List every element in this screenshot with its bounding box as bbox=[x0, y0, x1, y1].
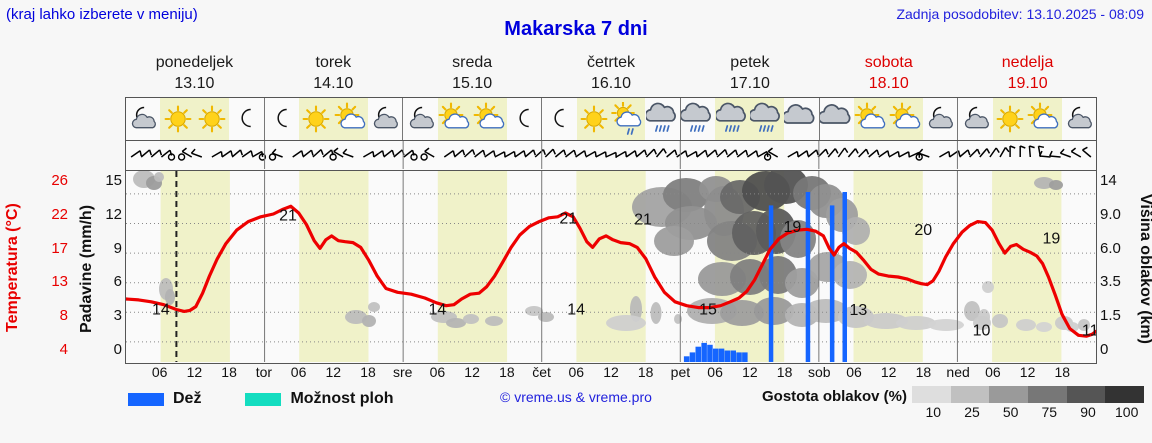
day-name: ponedeljek bbox=[125, 52, 264, 73]
weather-icon-row bbox=[125, 97, 1097, 141]
rain-legend-swatch bbox=[128, 393, 164, 406]
temp-label-8: 19 bbox=[784, 219, 802, 236]
showers-legend-swatch bbox=[245, 393, 281, 406]
sun-icon bbox=[195, 98, 229, 140]
temp-label-10: 10 bbox=[973, 322, 991, 339]
day-header-0: ponedeljek13.10 bbox=[125, 52, 264, 94]
precipitation-tick-3: 6 bbox=[114, 273, 122, 290]
icon-day-4 bbox=[681, 98, 820, 140]
sun-cloud-icon bbox=[854, 98, 888, 140]
cloud-density-legend-label: Gostota oblakov (%) bbox=[762, 388, 907, 405]
day-name: četrtek bbox=[542, 52, 681, 73]
cloud-height-tick-0: 14 bbox=[1100, 172, 1117, 189]
copyright-text[interactable]: © vreme.us & vreme.pro bbox=[500, 389, 652, 405]
icon-day-0 bbox=[126, 98, 265, 140]
moon-cloud-icon bbox=[403, 98, 437, 140]
temp-label-6: 21 bbox=[634, 212, 652, 229]
temperature-tick-3: 13 bbox=[51, 273, 68, 290]
time-tick-17: 12 bbox=[742, 364, 758, 380]
time-tick-22: 18 bbox=[916, 364, 932, 380]
time-tick-25: 12 bbox=[1020, 364, 1036, 380]
moon-icon bbox=[542, 98, 576, 140]
cloud-height-tick-4: 1.5 bbox=[1100, 307, 1121, 324]
moon-cloud-icon bbox=[923, 98, 957, 140]
time-tick-2: 18 bbox=[221, 364, 237, 380]
cloud-icon bbox=[820, 98, 854, 140]
temp-label-0: 14 bbox=[152, 301, 170, 318]
day-name: petek bbox=[680, 52, 819, 73]
cloud-density-swatch-1 bbox=[951, 386, 990, 403]
temperature-tick-5: 4 bbox=[60, 341, 68, 358]
sun-cloud-icon bbox=[472, 98, 506, 140]
temp-label-4: 14 bbox=[567, 301, 585, 318]
day-header-row: ponedeljek13.10torek14.10sreda15.10četrt… bbox=[125, 52, 1097, 94]
day-header-1: torek14.10 bbox=[264, 52, 403, 94]
cloud-height-tick-1: 9.0 bbox=[1100, 206, 1121, 223]
icon-day-3 bbox=[542, 98, 681, 140]
day-name: nedelja bbox=[958, 52, 1097, 73]
temperature-tick-2: 17 bbox=[51, 240, 68, 257]
temp-label-1: 21 bbox=[279, 208, 297, 225]
cloud-rain-icon bbox=[645, 98, 679, 140]
time-tick-12: 06 bbox=[569, 364, 585, 380]
temperature-axis-ticks: 2622171384 bbox=[34, 160, 68, 372]
rain-legend-label: Dež bbox=[173, 390, 201, 408]
time-tick-24: 06 bbox=[985, 364, 1001, 380]
day-date: 13.10 bbox=[125, 73, 264, 94]
sun-cloud-icon bbox=[888, 98, 922, 140]
temp-label-11: 19 bbox=[1043, 231, 1061, 248]
cloud-density-tick-4: 90 bbox=[1080, 404, 1096, 420]
time-tick-13: 12 bbox=[603, 364, 619, 380]
precipitation-tick-1: 12 bbox=[105, 206, 122, 223]
time-tick-8: 06 bbox=[430, 364, 446, 380]
day-header-4: petek17.10 bbox=[680, 52, 819, 94]
temp-label-3: 21 bbox=[559, 211, 577, 228]
precipitation-tick-2: 9 bbox=[114, 240, 122, 257]
cloud-density-tick-3: 75 bbox=[1042, 404, 1058, 420]
time-axis-labels: 061218tor061218sre061218čet061218pet0612… bbox=[125, 364, 1097, 384]
day-date: 17.10 bbox=[680, 73, 819, 94]
cloud-rain-icon bbox=[681, 98, 715, 140]
sun-cloud-icon bbox=[438, 98, 472, 140]
time-tick-7: sre bbox=[393, 364, 412, 380]
cloud-density-ramp-ticks: 1025507590100 bbox=[904, 404, 1148, 422]
temp-label-7: 13 bbox=[850, 302, 868, 319]
cloud-density-swatch-2 bbox=[989, 386, 1028, 403]
time-tick-4: 06 bbox=[291, 364, 307, 380]
cloud-density-swatch-4 bbox=[1067, 386, 1106, 403]
day-date: 14.10 bbox=[264, 73, 403, 94]
temperature-tick-4: 8 bbox=[60, 307, 68, 324]
cloud-density-swatch-5 bbox=[1105, 386, 1144, 403]
meteogram-svg: 14211421141521131920101911 bbox=[126, 171, 1096, 362]
time-tick-10: 18 bbox=[499, 364, 515, 380]
temperature-axis-title: Temperatura (°C) bbox=[4, 168, 32, 368]
sun-icon bbox=[160, 98, 194, 140]
temp-label-5: 15 bbox=[699, 301, 717, 318]
wind-barbs-svg bbox=[126, 141, 1096, 169]
cloud-height-tick-5: 0 bbox=[1100, 341, 1108, 358]
time-tick-0: 06 bbox=[152, 364, 168, 380]
cloud-density-color-ramp bbox=[912, 386, 1144, 403]
cloud-density-tick-1: 25 bbox=[964, 404, 980, 420]
last-updated-text: Zadnja posodobitev: 13.10.2025 - 08:09 bbox=[896, 6, 1144, 22]
temp-label-9: 20 bbox=[914, 222, 932, 239]
day-name: torek bbox=[264, 52, 403, 73]
wind-barb-row bbox=[125, 141, 1097, 171]
precipitation-axis-ticks: 15129630 bbox=[100, 160, 122, 372]
cloud-density-tick-0: 10 bbox=[926, 404, 942, 420]
cloud-density-tick-2: 50 bbox=[1003, 404, 1019, 420]
time-tick-26: 18 bbox=[1055, 364, 1071, 380]
sun-cloud-icon bbox=[1027, 98, 1061, 140]
time-tick-9: 12 bbox=[464, 364, 480, 380]
showers-legend-label: Možnost ploh bbox=[290, 390, 393, 408]
time-tick-5: 12 bbox=[326, 364, 342, 380]
cloud-height-axis-title: Višina oblakov (km) bbox=[1128, 166, 1152, 372]
precipitation-tick-4: 3 bbox=[114, 307, 122, 324]
time-tick-6: 18 bbox=[360, 364, 376, 380]
moon-cloud-icon bbox=[368, 98, 402, 140]
day-header-6: nedelja19.10 bbox=[958, 52, 1097, 94]
sun-cloud-icon bbox=[334, 98, 368, 140]
day-date: 18.10 bbox=[819, 73, 958, 94]
time-tick-3: tor bbox=[256, 364, 272, 380]
day-header-3: četrtek16.10 bbox=[542, 52, 681, 94]
moon-icon bbox=[265, 98, 299, 140]
sun-icon bbox=[993, 98, 1027, 140]
temperature-tick-1: 22 bbox=[51, 206, 68, 223]
temperature-tick-0: 26 bbox=[51, 172, 68, 189]
cloud-density-swatch-0 bbox=[912, 386, 951, 403]
moon-icon bbox=[507, 98, 541, 140]
moon-icon bbox=[229, 98, 263, 140]
day-header-2: sreda15.10 bbox=[403, 52, 542, 94]
day-name: sobota bbox=[819, 52, 958, 73]
day-date: 16.10 bbox=[542, 73, 681, 94]
sun-icon bbox=[299, 98, 333, 140]
icon-day-1 bbox=[265, 98, 404, 140]
temp-label-12: 11 bbox=[1082, 322, 1096, 339]
time-tick-15: pet bbox=[671, 364, 690, 380]
time-tick-21: 12 bbox=[881, 364, 897, 380]
time-tick-14: 18 bbox=[638, 364, 654, 380]
moon-cloud-icon bbox=[1062, 98, 1096, 140]
cloud-icon bbox=[784, 98, 818, 140]
cloud-density-swatch-3 bbox=[1028, 386, 1067, 403]
time-tick-18: 18 bbox=[777, 364, 793, 380]
moon-cloud-icon bbox=[958, 98, 992, 140]
icon-day-6 bbox=[958, 98, 1096, 140]
cloud-height-tick-3: 3.5 bbox=[1100, 273, 1121, 290]
icon-day-2 bbox=[403, 98, 542, 140]
temp-label-2: 14 bbox=[429, 301, 447, 318]
time-tick-11: čet bbox=[532, 364, 551, 380]
cloud-rain-icon bbox=[750, 98, 784, 140]
sun-icon bbox=[577, 98, 611, 140]
icon-day-5 bbox=[820, 98, 959, 140]
time-tick-19: sob bbox=[808, 364, 831, 380]
time-tick-23: ned bbox=[946, 364, 969, 380]
day-date: 19.10 bbox=[958, 73, 1097, 94]
day-name: sreda bbox=[403, 52, 542, 73]
cloud-height-tick-2: 6.0 bbox=[1100, 240, 1121, 257]
time-tick-16: 06 bbox=[707, 364, 723, 380]
cloud-density-tick-5: 100 bbox=[1115, 404, 1138, 420]
time-tick-1: 12 bbox=[187, 364, 203, 380]
cloud-rain-icon bbox=[715, 98, 749, 140]
day-header-5: sobota18.10 bbox=[819, 52, 958, 94]
moon-cloud-icon bbox=[126, 98, 160, 140]
time-tick-20: 06 bbox=[846, 364, 862, 380]
meteogram-plot: 14211421141521131920101911 bbox=[125, 171, 1097, 364]
day-date: 15.10 bbox=[403, 73, 542, 94]
precipitation-tick-0: 15 bbox=[105, 172, 122, 189]
sun-cloud-rain-icon bbox=[611, 98, 645, 140]
precipitation-tick-5: 0 bbox=[114, 341, 122, 358]
